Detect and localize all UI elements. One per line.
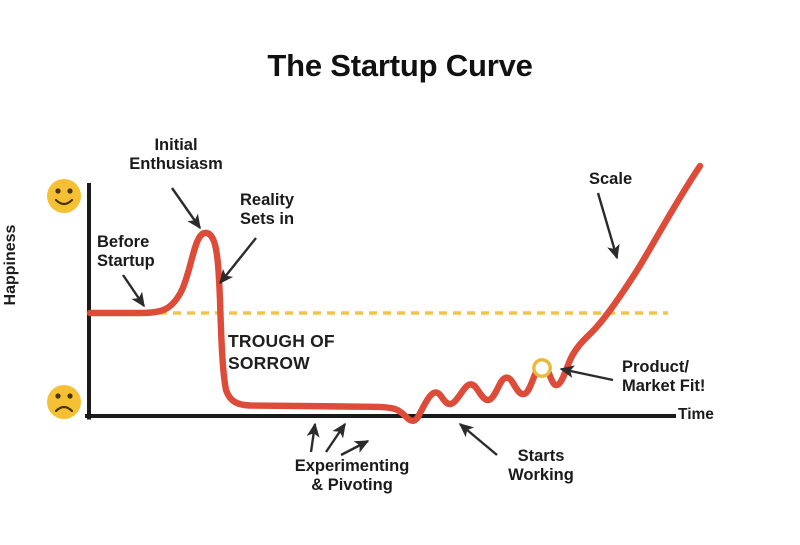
label-starts-working: Starts Working bbox=[492, 447, 590, 486]
label-before-startup: Before Startup bbox=[97, 233, 207, 272]
startup-curve-figure: The Startup Curve bbox=[0, 0, 800, 545]
arrow-before-startup bbox=[123, 275, 144, 306]
label-scale: Scale bbox=[589, 170, 669, 189]
arrow-experimenting-2 bbox=[326, 424, 345, 452]
label-product-market-fit: Product/ Market Fit! bbox=[622, 358, 762, 397]
arrow-reality-sets-in bbox=[220, 238, 256, 283]
arrow-experimenting-3 bbox=[341, 441, 368, 455]
product-market-fit-marker bbox=[534, 360, 550, 376]
label-trough-of-sorrow: TROUGH OF SORROW bbox=[228, 331, 335, 375]
y-axis-label: Happiness bbox=[2, 205, 20, 325]
happy-face-icon bbox=[47, 179, 81, 213]
arrow-initial-enthusiasm bbox=[172, 188, 200, 228]
label-reality-sets-in: Reality Sets in bbox=[240, 191, 360, 230]
x-axis-label: Time bbox=[678, 406, 714, 424]
arrow-scale bbox=[598, 193, 617, 258]
arrow-product-market-fit bbox=[561, 369, 613, 380]
arrow-experimenting-1 bbox=[311, 424, 315, 452]
startup-curve-path bbox=[90, 166, 700, 421]
sad-face-icon bbox=[47, 385, 81, 419]
label-initial-enthusiasm: Initial Enthusiasm bbox=[106, 136, 246, 175]
label-experimenting-pivoting: Experimenting & Pivoting bbox=[272, 457, 432, 496]
